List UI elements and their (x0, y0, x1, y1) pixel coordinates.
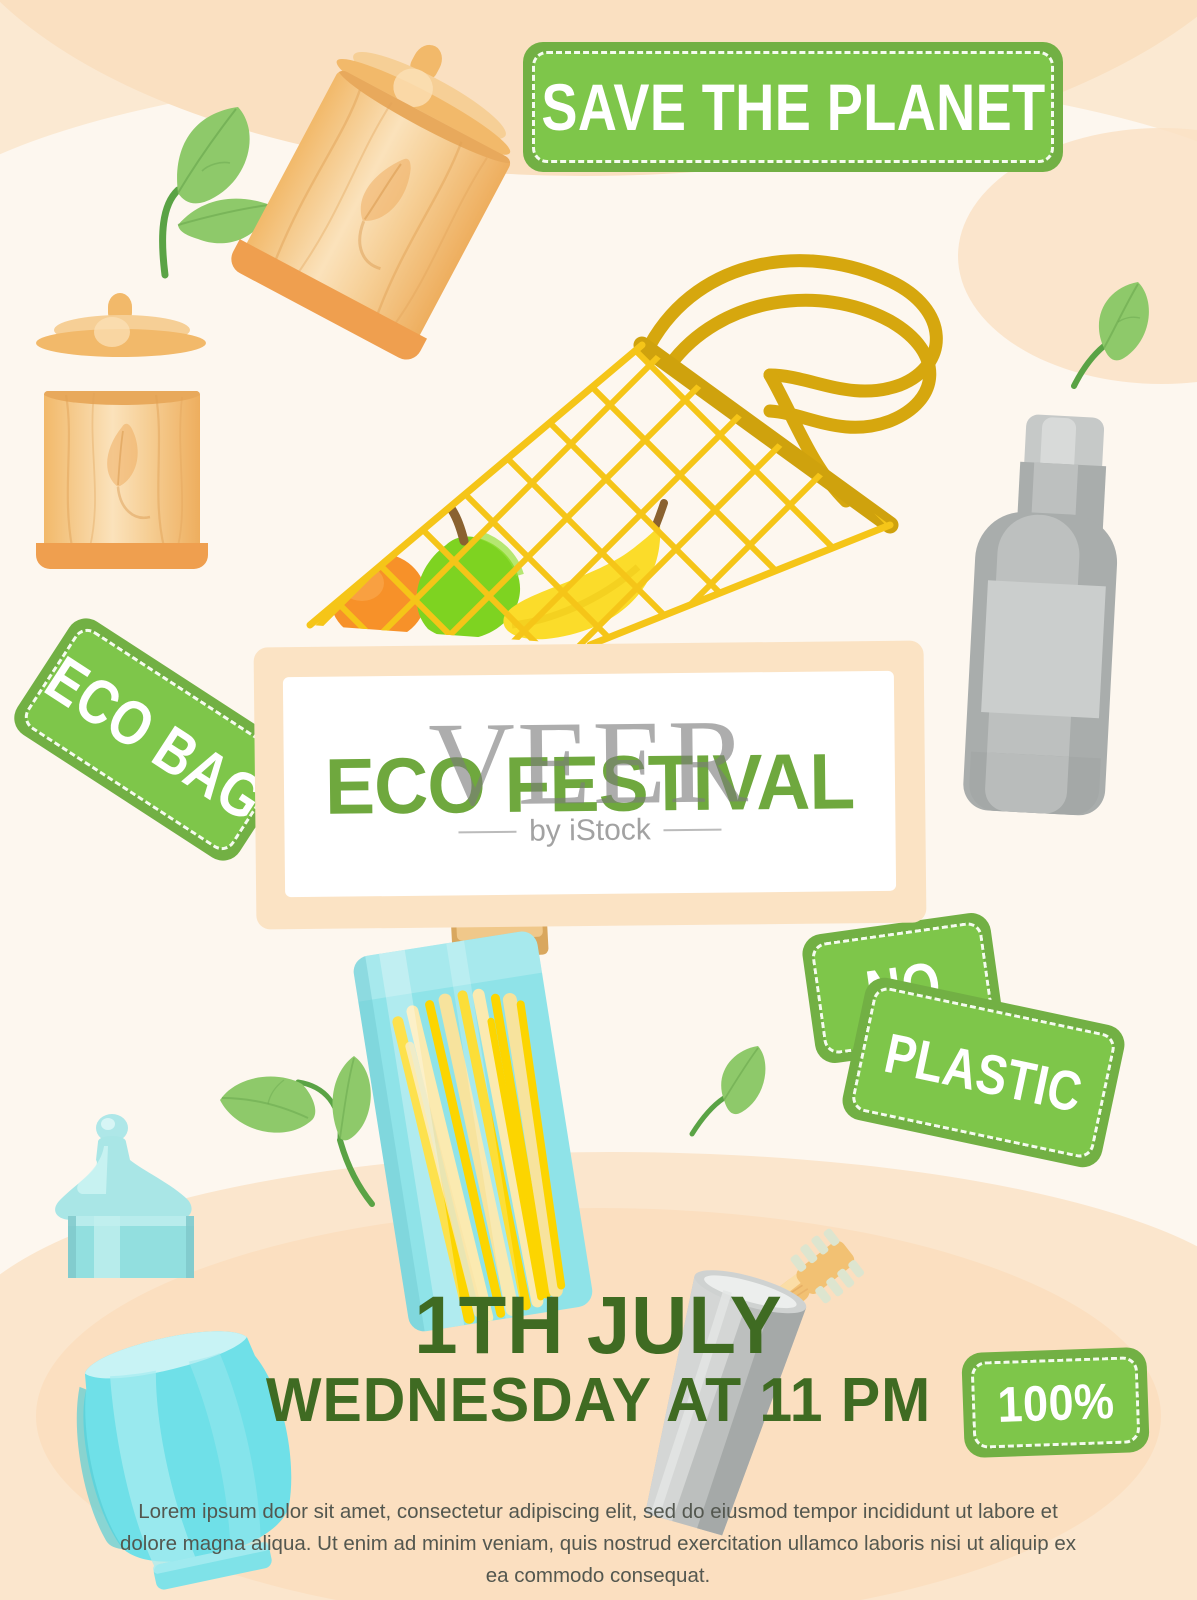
canister-body (44, 391, 200, 549)
event-date-block: 1TH JULY WEDNESDAY AT 11 PM (0, 1286, 1197, 1436)
badge-label: PLASTIC (880, 1024, 1087, 1120)
event-time: WEDNESDAY AT 11 PM (30, 1366, 1167, 1435)
title-card: ECO FESTIVAL VEER by iStock (254, 640, 927, 929)
badge-save-the-planet[interactable]: SAVE THE PLANET (523, 42, 1063, 172)
title-card-surface: ECO FESTIVAL VEER by iStock (283, 671, 896, 897)
leaf-single-right-icon (1060, 278, 1170, 398)
glass-lid-dome (46, 1098, 226, 1288)
event-date: 1TH JULY (30, 1286, 1167, 1366)
page-title: ECO FESTIVAL (324, 735, 854, 833)
mesh-produce-bag-icon (250, 225, 970, 685)
wooden-canister-upright (28, 305, 218, 575)
badge-inner: SAVE THE PLANET (534, 53, 1052, 161)
eco-festival-poster: ECO FESTIVAL VEER by iStock SAVE THE PLA… (0, 0, 1197, 1600)
canister-lid (36, 305, 206, 363)
leaf-sprig-mid-left-icon (206, 1028, 406, 1208)
leaf-single-center-icon (680, 1042, 780, 1142)
footer-description: Lorem ipsum dolor sit amet, consectetur … (118, 1496, 1078, 1591)
canister-base-rim (36, 543, 208, 569)
metal-thermos-bottle (949, 411, 1130, 829)
badge-label: SAVE THE PLANET (541, 74, 1045, 140)
